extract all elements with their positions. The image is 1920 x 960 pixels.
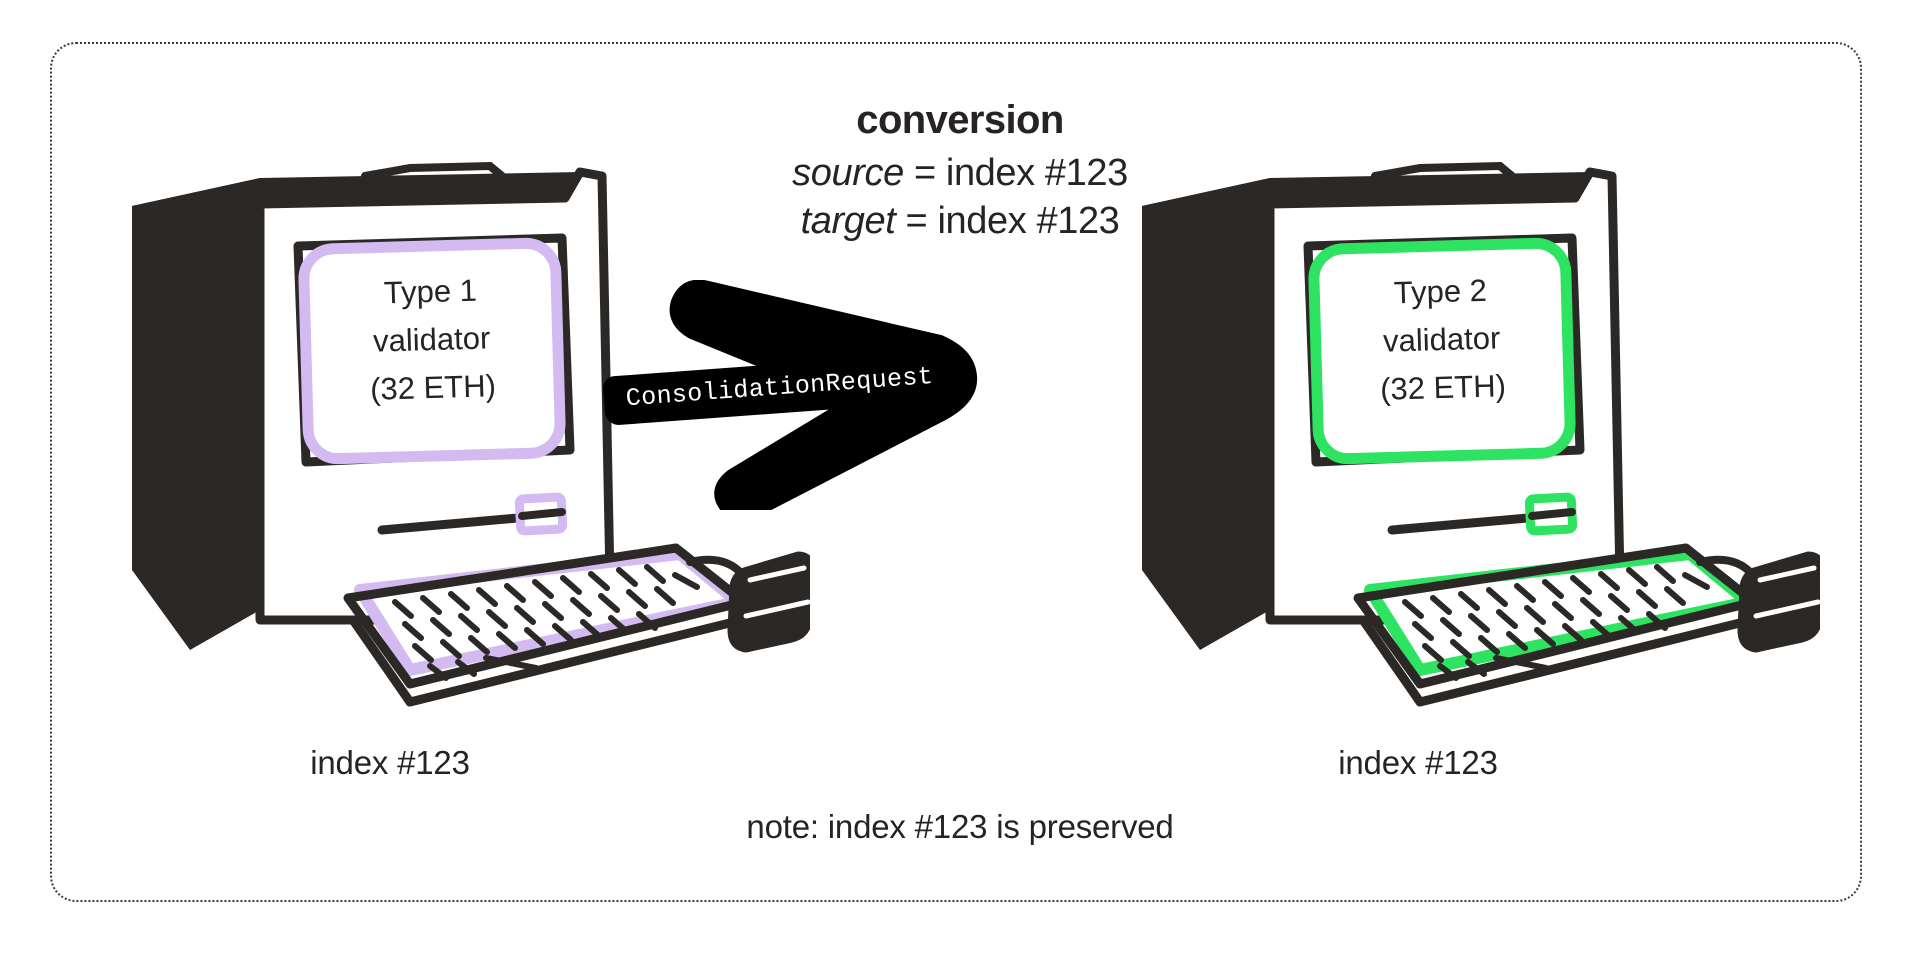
computer-side-panel [1142,178,1270,650]
param-value-source: index #123 [946,152,1128,194]
screen-line-2: validator [1383,320,1501,358]
floppy-slot-inner [1532,512,1572,516]
param-separator-source: = [904,152,946,194]
source-index-caption: index #123 [180,744,600,782]
screen-line-1: Type 1 [383,273,477,311]
target-validator-computer: Type 2 validator (32 ETH) [1120,150,1820,710]
param-separator-target: = [895,200,937,242]
page-title: conversion [580,100,1340,140]
screen-line-3: (32 ETH) [1380,368,1507,406]
diagram-canvas: conversion source = index #123 target = … [0,0,1920,960]
target-index-caption: index #123 [1208,744,1628,782]
param-value-target: index #123 [937,200,1119,242]
screen-line-2: validator [373,320,491,358]
param-key-target: target [801,200,896,242]
computer-illustration-right: Type 2 validator (32 ETH) [1142,166,1820,702]
computer-side-panel [132,178,260,650]
screen-line-3: (32 ETH) [370,368,497,406]
screen-line-1: Type 2 [1393,273,1487,311]
floppy-slot-inner [522,512,562,516]
preservation-note: note: index #123 is preserved [460,808,1460,846]
